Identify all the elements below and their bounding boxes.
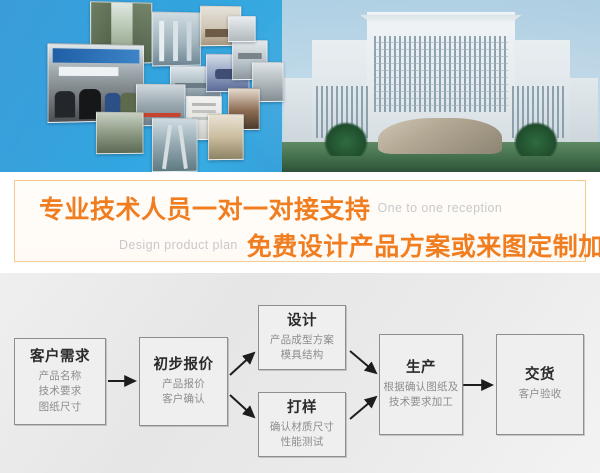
slogan-banner: 专业技术人员一对一对接支持One to one reception Design… xyxy=(0,172,600,273)
arrow-quotation-to-design xyxy=(230,353,254,375)
arrow-sampling-to-production xyxy=(350,397,376,419)
collage-photo-steel-structure xyxy=(152,118,198,172)
hero-banner xyxy=(0,0,600,172)
flow-node-detail: 模具结构 xyxy=(281,348,324,363)
flow-node-sampling[interactable]: 打样 确认材质尺寸 性能测试 xyxy=(258,392,346,457)
tree-left xyxy=(324,122,368,156)
flow-node-title: 初步报价 xyxy=(154,356,214,374)
flow-node-detail: 产品成型方案 xyxy=(270,333,334,348)
flow-node-detail: 产品报价 xyxy=(162,377,205,392)
arrow-design-to-production xyxy=(350,351,376,373)
flow-node-design[interactable]: 设计 产品成型方案 模具结构 xyxy=(258,305,346,370)
flow-node-title: 设计 xyxy=(287,312,317,330)
decorative-rock xyxy=(378,118,502,154)
slogan-line-1-chinese: 专业技术人员一对一对接支持 xyxy=(39,195,371,224)
slogan-banner-frame: 专业技术人员一对一对接支持One to one reception Design… xyxy=(14,180,586,262)
slogan-line-2: Design product plan免费设计产品方案或来图定制加工 xyxy=(119,227,600,263)
office-building-photo xyxy=(282,0,600,172)
slogan-line-2-english: Design product plan xyxy=(119,238,238,252)
flow-node-delivery[interactable]: 交货 客户验收 xyxy=(496,334,584,435)
flow-node-detail: 根据确认图纸及 xyxy=(384,380,459,395)
slogan-line-2-chinese: 免费设计产品方案或来图定制加工 xyxy=(247,232,600,261)
collage-photo-factory-yard xyxy=(96,112,144,154)
flow-node-title: 打样 xyxy=(287,399,317,417)
flow-node-detail: 客户验收 xyxy=(519,387,562,402)
flow-node-title: 生产 xyxy=(406,359,436,377)
building-tower-floors xyxy=(374,36,508,112)
collage-photo-equipment xyxy=(228,16,256,42)
flow-node-detail: 图纸尺寸 xyxy=(39,400,82,415)
flow-node-detail: 技术要求 xyxy=(39,384,82,399)
flow-node-customer-requirement[interactable]: 客户需求 产品名称 技术要求 图纸尺寸 xyxy=(14,338,106,425)
flow-node-detail: 技术要求加工 xyxy=(389,395,453,410)
page-root: 专业技术人员一对一对接支持One to one reception Design… xyxy=(0,0,600,473)
arrow-quotation-to-sampling xyxy=(230,395,254,417)
flow-node-detail: 性能测试 xyxy=(281,435,324,450)
tree-right xyxy=(514,122,558,156)
photo-collage xyxy=(0,0,300,172)
slogan-line-1-english: One to one reception xyxy=(378,201,503,215)
flow-node-preliminary-quotation[interactable]: 初步报价 产品报价 客户确认 xyxy=(139,337,228,426)
collage-photo-hallway xyxy=(208,114,244,160)
flow-node-title: 客户需求 xyxy=(30,348,90,366)
flow-node-detail: 确认材质尺寸 xyxy=(270,420,334,435)
flow-node-title: 交货 xyxy=(525,366,555,384)
collage-photo-workshop-a xyxy=(152,12,201,67)
process-flowchart: 客户需求 产品名称 技术要求 图纸尺寸 初步报价 产品报价 客户确认 设计 产品… xyxy=(0,273,600,473)
flow-node-detail: 客户确认 xyxy=(162,392,205,407)
flow-node-detail: 产品名称 xyxy=(39,369,82,384)
slogan-line-1: 专业技术人员一对一对接支持One to one reception xyxy=(39,190,502,226)
flow-node-production[interactable]: 生产 根据确认图纸及 技术要求加工 xyxy=(379,334,463,435)
